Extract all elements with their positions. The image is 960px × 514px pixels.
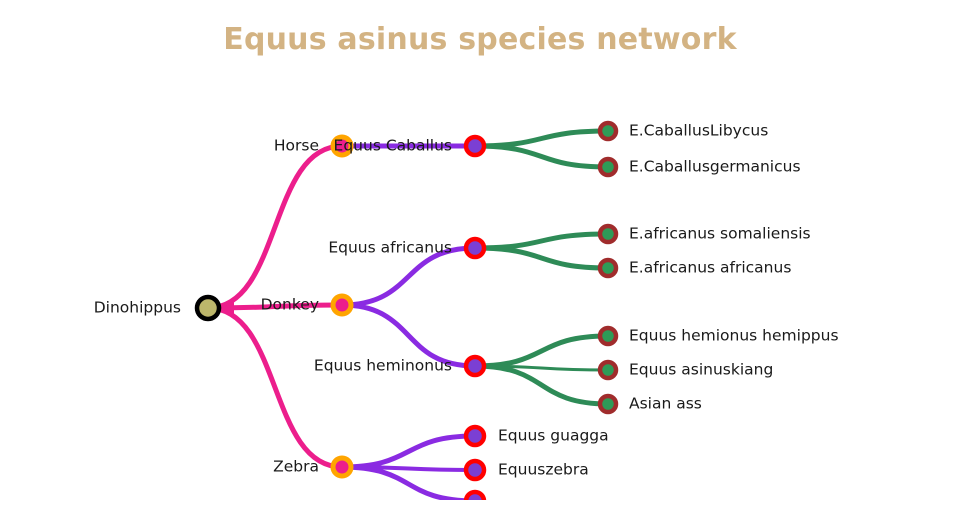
edge-layer: [208, 131, 608, 500]
species-network-canvas: Equus asinus species network DinohippusH…: [0, 0, 960, 500]
node-hit-zebra_third[interactable]: [462, 488, 488, 514]
edge-equus_africanus-to-afr_africanus: [475, 248, 608, 268]
edge-equus_africanus-to-afr_somaliensis: [475, 234, 608, 248]
node-hit-dinohippus[interactable]: [195, 295, 221, 321]
node-label-afr_africanus: E.africanus africanus: [629, 260, 791, 276]
node-label-cab_libycus: E.CaballusLibycus: [629, 123, 768, 139]
edge-horse-to-dinohippus: [208, 146, 342, 308]
edge-donkey-to-equus_africanus: [342, 248, 475, 305]
node-hit-equuszebra[interactable]: [462, 457, 488, 483]
edge-equus_caballus-to-cab_libycus: [475, 131, 608, 146]
node-hit-afr_africanus[interactable]: [595, 255, 621, 281]
page-title: Equus asinus species network: [0, 22, 960, 57]
edge-equus_caballus-to-cab_germanicus: [475, 146, 608, 167]
edge-zebra-to-equus_guagga: [342, 436, 475, 467]
node-hit-afr_somaliensis[interactable]: [595, 221, 621, 247]
node-label-asian_ass: Asian ass: [629, 396, 702, 412]
edge-zebra-to-dinohippus: [208, 308, 342, 467]
edge-equus_heminonus-to-asian_ass: [475, 366, 608, 404]
node-hit-asinuskiang[interactable]: [595, 357, 621, 383]
node-label-zebra: Zebra: [273, 459, 319, 475]
node-hit-cab_libycus[interactable]: [595, 118, 621, 144]
node-hit-equus_caballus[interactable]: [462, 133, 488, 159]
edge-zebra-to-zebra_third: [342, 467, 475, 500]
node-label-dinohippus: Dinohippus: [94, 300, 181, 316]
node-label-horse: Horse: [274, 138, 319, 154]
node-label-hem_hemippus: Equus hemionus hemippus: [629, 328, 839, 344]
node-hit-zebra[interactable]: [329, 454, 355, 480]
node-hit-equus_guagga[interactable]: [462, 423, 488, 449]
node-label-asinuskiang: Equus asinuskiang: [629, 362, 773, 378]
node-hit-hem_hemippus[interactable]: [595, 323, 621, 349]
node-hit-donkey[interactable]: [329, 292, 355, 318]
node-hit-equus_heminonus[interactable]: [462, 353, 488, 379]
node-label-equus_heminonus: Equus heminonus: [314, 358, 452, 374]
node-label-cab_germanicus: E.Caballusgermanicus: [629, 159, 801, 175]
node-label-equuszebra: Equuszebra: [498, 462, 589, 478]
node-label-donkey: Donkey: [261, 297, 319, 313]
node-hit-horse[interactable]: [329, 133, 355, 159]
node-hit-cab_germanicus[interactable]: [595, 154, 621, 180]
node-label-equus_guagga: Equus guagga: [498, 428, 609, 444]
node-hit-equus_africanus[interactable]: [462, 235, 488, 261]
node-hit-asian_ass[interactable]: [595, 391, 621, 417]
edge-equus_heminonus-to-hem_hemippus: [475, 336, 608, 366]
node-label-afr_somaliensis: E.africanus somaliensis: [629, 226, 811, 242]
node-label-equus_africanus: Equus africanus: [328, 240, 452, 256]
